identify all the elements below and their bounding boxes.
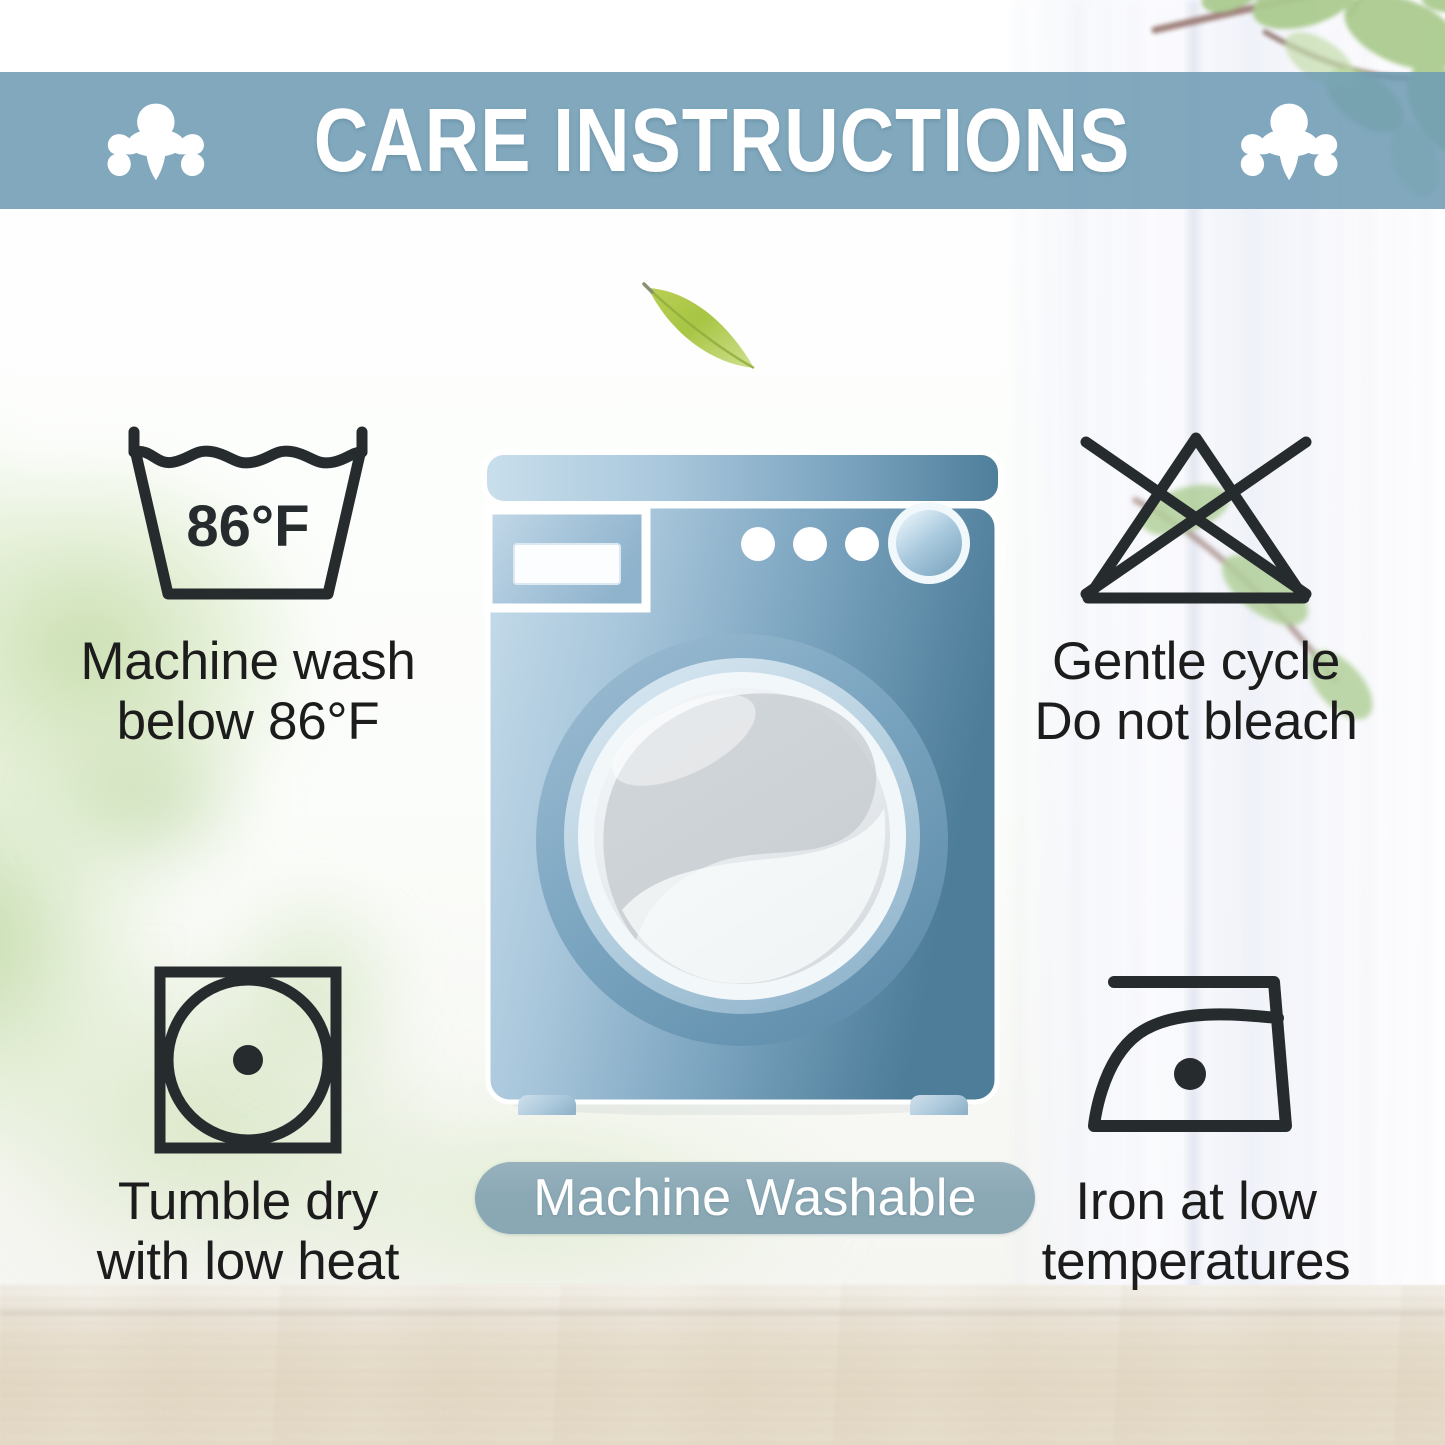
crossed-triangle-icon-wrapper [1068,418,1324,618]
wash-tub-icon-wrapper: 86°F [120,418,376,618]
fleur-de-lis-left-icon [98,93,210,189]
wash-tub-icon: 86°F [120,422,376,614]
care-label-iron: Iron at low temperatures [1042,1172,1351,1293]
iron-icon-wrapper [1078,962,1314,1158]
tumble-dry-square-circle-icon [150,962,346,1158]
care-symbol-tumble-dry: Tumble dry with low heat [38,962,458,1293]
care-symbol-machine-wash: 86°F Machine wash below 86°F [38,418,458,753]
wash-temperature-value: 86°F [186,494,309,559]
care-label-machine-wash: Machine wash below 86°F [80,632,415,753]
crossed-triangle-icon [1068,422,1324,614]
machine-washable-badge: Machine Washable [475,1162,1035,1234]
fleur-de-lis-right-icon [1235,93,1347,189]
care-instructions-poster: CARE INSTRUCTIONS [0,0,1445,1445]
machine-foot-left [518,1095,576,1115]
care-label-do-not-bleach: Gentle cycle Do not bleach [1034,632,1357,753]
machine-foot-right [910,1095,968,1115]
care-label-tumble-dry: Tumble dry with low heat [97,1172,399,1293]
care-symbol-iron: Iron at low temperatures [986,962,1406,1293]
washing-machine-illustration [470,440,1015,1115]
machine-top-lid [484,452,1001,504]
detergent-drawer-slot [514,544,620,584]
control-knob [896,510,962,576]
wooden-surface-edge [0,1309,1445,1317]
floating-leaf-icon [638,272,768,382]
indicator-light-3 [845,527,879,561]
machine-washable-badge-label: Machine Washable [533,1172,977,1224]
iron-icon [1078,970,1314,1150]
indicator-light-2 [793,527,827,561]
page-title: CARE INSTRUCTIONS [314,96,1131,186]
care-symbol-do-not-bleach: Gentle cycle Do not bleach [986,418,1406,753]
indicator-light-1 [741,527,775,561]
header-banner: CARE INSTRUCTIONS [0,72,1445,209]
tumble-dry-icon-wrapper [150,962,346,1158]
